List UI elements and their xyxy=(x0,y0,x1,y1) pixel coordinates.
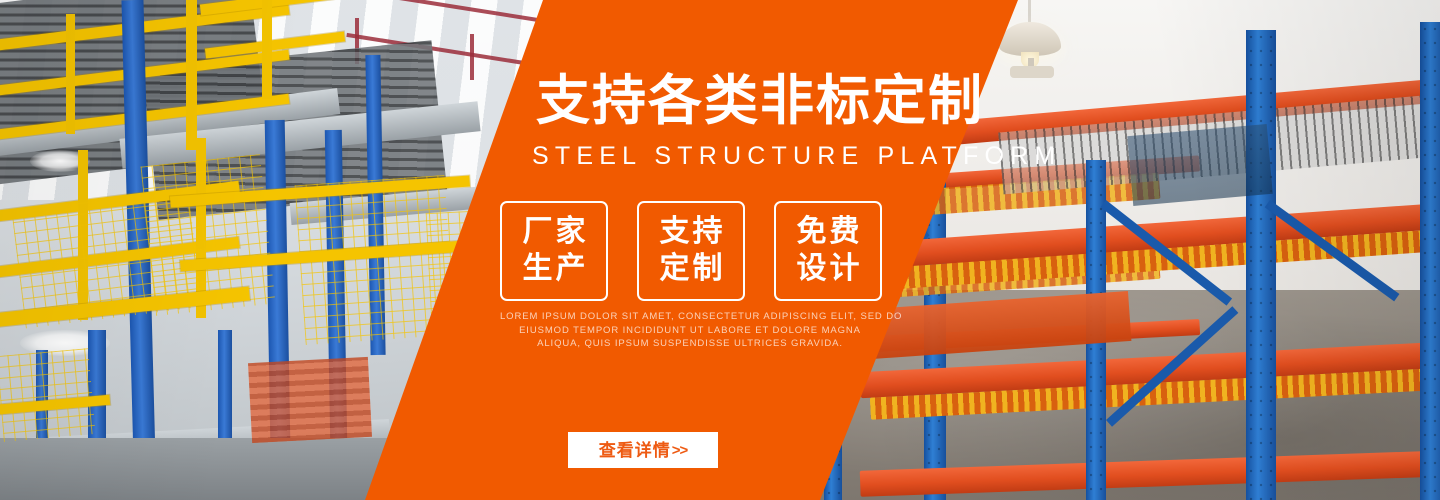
feature-badge-line1: 免费 xyxy=(794,214,863,251)
banner-description: LOREM IPSUM DOLOR SIT AMET, CONSECTETUR … xyxy=(500,310,880,351)
feature-badge-line1: 厂家 xyxy=(520,214,589,251)
banner-subtitle: STEEL STRUCTURE PLATFORM xyxy=(532,144,1061,169)
feature-badge-manufacturer: 厂家 生产 xyxy=(500,201,608,301)
feature-badge-customization: 支持 定制 xyxy=(637,201,745,301)
feature-badge-free-design: 免费 设计 xyxy=(774,201,882,301)
view-details-label: 查看详情 xyxy=(599,442,671,459)
double-chevron-right-icon: >> xyxy=(672,443,688,458)
feature-badge-line2: 设计 xyxy=(794,251,863,288)
promo-banner: 支持各类非标定制 STEEL STRUCTURE PLATFORM 厂家 生产 … xyxy=(0,0,1440,500)
description-line: LOREM IPSUM DOLOR SIT AMET, CONSECTETUR … xyxy=(500,310,880,324)
banner-title: 支持各类非标定制 xyxy=(536,74,984,128)
view-details-button[interactable]: 查看详情 >> xyxy=(568,432,718,468)
description-line: EIUSMOD TEMPOR INCIDIDUNT UT LABORE ET D… xyxy=(500,324,880,338)
description-line: ALIQUA, QUIS IPSUM SUSPENDISSE ULTRICES … xyxy=(500,337,880,351)
feature-badge-line2: 生产 xyxy=(520,251,589,288)
feature-badge-list: 厂家 生产 支持 定制 免费 设计 xyxy=(500,201,882,301)
feature-badge-line1: 支持 xyxy=(657,214,726,251)
banner-content: 支持各类非标定制 STEEL STRUCTURE PLATFORM 厂家 生产 … xyxy=(0,0,1440,500)
feature-badge-line2: 定制 xyxy=(657,251,726,288)
